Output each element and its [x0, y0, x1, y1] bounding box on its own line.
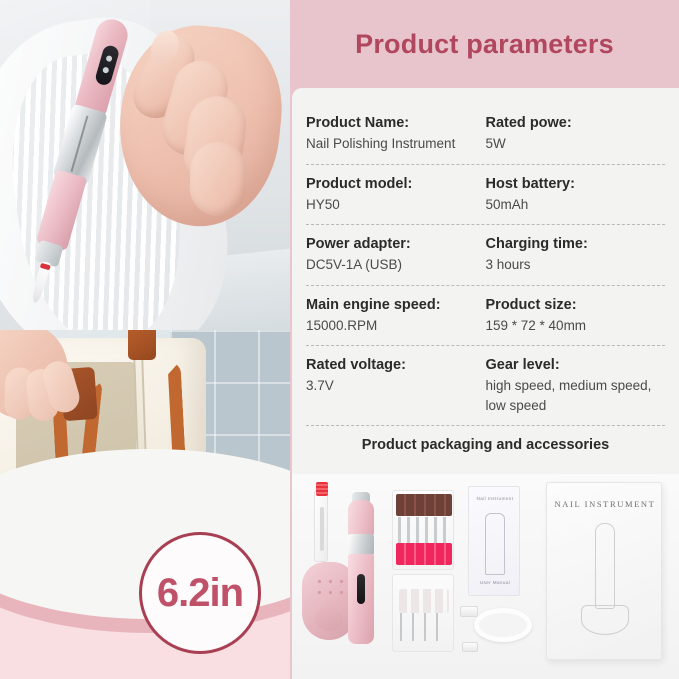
param-key: Rated voltage:: [306, 355, 480, 376]
packaging-section-title: Product packaging and accessories: [292, 426, 679, 462]
param-value: 3 hours: [486, 255, 660, 275]
table-row: Power adapter: DC5V-1A (USB) Charging ti…: [306, 225, 665, 286]
table-row: Main engine speed: 15000.RPM Product siz…: [306, 286, 665, 347]
product-parameters-infographic: 6.2in Product parameters Product Name: N…: [0, 0, 679, 679]
left-photo-column: 6.2in: [0, 0, 290, 679]
table-cell-right: Gear level: high speed, medium speed, lo…: [486, 355, 666, 415]
param-key: Product size:: [486, 295, 660, 316]
param-value: high speed, medium speed, low speed: [486, 376, 660, 415]
strap-tab: [128, 330, 156, 360]
accessory-ceramic-bit-set: [392, 574, 454, 652]
accessory-user-manual: Nail Instrument User Manual: [468, 486, 520, 596]
param-key: Rated powe:: [486, 113, 660, 134]
param-value: 5W: [486, 134, 660, 154]
table-cell-right: Product size: 159 * 72 * 40mm: [486, 295, 666, 336]
param-value: HY50: [306, 195, 480, 215]
param-value: 50mAh: [486, 195, 660, 215]
pen-display-screen: [94, 44, 120, 87]
photo-hand-holding-device: [0, 0, 290, 340]
table-cell-right: Host battery: 50mAh: [486, 174, 666, 215]
manual-bottom-label: User Manual: [469, 580, 521, 585]
illustration-stand: [581, 605, 629, 635]
table-row: Product model: HY50 Host battery: 50mAh: [306, 165, 665, 226]
table-cell-right: Rated powe: 5W: [486, 113, 666, 154]
param-value: DC5V-1A (USB): [306, 255, 480, 275]
accessories-photo: Nail Instrument User Manual NAIL INSTRUM…: [292, 474, 679, 679]
manual-top-label: Nail Instrument: [469, 496, 521, 501]
bit-stems: [400, 613, 448, 641]
param-value: 15000.RPM: [306, 316, 480, 336]
usb-plug: [460, 606, 478, 617]
param-value: 3.7V: [306, 376, 480, 396]
param-key: Product model:: [306, 174, 480, 195]
box-device-illustration: [585, 523, 625, 635]
table-cell-left: Power adapter: DC5V-1A (USB): [306, 234, 486, 275]
manual-device-illustration: [485, 513, 505, 575]
parameters-table: Product Name: Nail Polishing Instrument …: [292, 104, 679, 426]
pen-metal-band: [348, 534, 374, 556]
header-banner: Product parameters: [290, 0, 679, 88]
finger: [189, 141, 248, 217]
size-badge-label: 6.2in: [157, 571, 243, 616]
right-parameters-column: Product parameters Product Name: Nail Po…: [290, 0, 679, 679]
parameters-panel: Product Name: Nail Polishing Instrument …: [292, 88, 679, 679]
accessory-usb-cable: [460, 602, 534, 654]
table-cell-left: Product Name: Nail Polishing Instrument: [306, 113, 486, 154]
param-key: Main engine speed:: [306, 295, 480, 316]
table-row: Rated voltage: 3.7V Gear level: high spe…: [306, 346, 665, 426]
pen-top-shell: [348, 500, 374, 536]
sanding-bands: [396, 494, 452, 516]
size-badge: 6.2in: [139, 532, 261, 654]
table-cell-left: Main engine speed: 15000.RPM: [306, 295, 486, 336]
param-key: Host battery:: [486, 174, 660, 195]
param-key: Product Name:: [306, 113, 480, 134]
accessory-pen-device: [348, 492, 374, 644]
pen-led-indicator: [357, 574, 365, 604]
param-key: Charging time:: [486, 234, 660, 255]
cable-loop: [474, 608, 532, 642]
param-value: 159 * 72 * 40mm: [486, 316, 660, 336]
table-cell-left: Product model: HY50: [306, 174, 486, 215]
accessory-product-box: NAIL INSTRUMENT: [546, 482, 662, 660]
param-key: Power adapter:: [306, 234, 480, 255]
param-key: Gear level:: [486, 355, 660, 376]
table-cell-right: Charging time: 3 hours: [486, 234, 666, 275]
table-cell-left: Rated voltage: 3.7V: [306, 355, 486, 415]
table-row: Product Name: Nail Polishing Instrument …: [306, 104, 665, 165]
page-title: Product parameters: [355, 29, 614, 60]
accessory-sanding-bit-set: [392, 490, 454, 570]
bit-case-base: [396, 543, 452, 565]
illustration-pen: [595, 523, 615, 609]
accessory-bit-tube: [314, 490, 328, 562]
param-value: Nail Polishing Instrument: [306, 134, 480, 154]
usb-plug: [462, 642, 478, 652]
ceramic-bits: [399, 589, 449, 613]
box-label: NAIL INSTRUMENT: [547, 499, 663, 509]
